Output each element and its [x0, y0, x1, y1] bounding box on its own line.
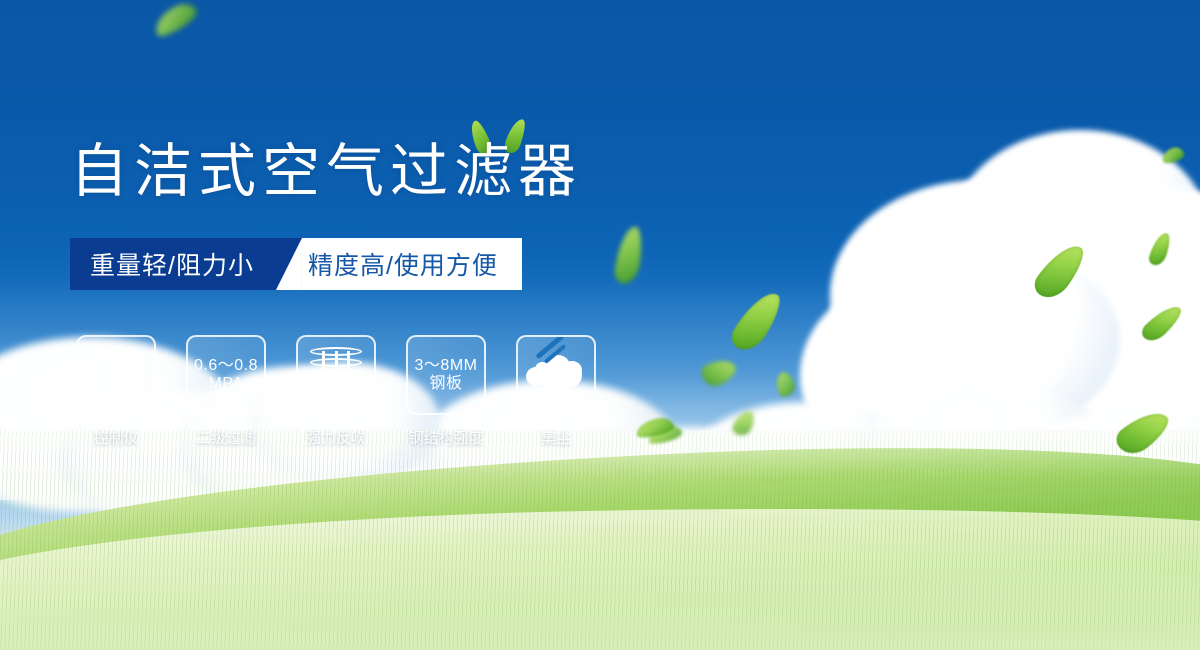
feature-item-control[interactable]: NO OFF 控制仪 — [70, 335, 162, 448]
dial-tick — [91, 359, 94, 362]
steel-line1: 3〜8MM — [415, 357, 478, 374]
dial-tick — [89, 364, 92, 367]
pressure-line1: 0.6〜0.8 — [194, 357, 258, 374]
dial-tick — [110, 347, 113, 350]
dial-tick — [95, 355, 98, 358]
dial-tick — [90, 385, 93, 388]
dial-tick — [120, 347, 123, 350]
dial-tick — [99, 351, 102, 354]
subtitle-divider — [276, 238, 302, 290]
feature-list: NO OFF 控制仪 0.6〜0.8 MPA 二级过滤 — [70, 335, 602, 448]
steel-line2: 钢板 — [415, 375, 478, 393]
dial-tick — [134, 355, 137, 358]
feature-label: 二级过滤 — [196, 427, 256, 448]
dial-tick — [97, 394, 100, 397]
subtitle-bar: 重量轻/阻力小 精度高/使用方便 — [70, 238, 522, 290]
gauge-graphic: NO OFF — [81, 342, 151, 408]
dial-tick — [127, 397, 130, 400]
dial-on-label: NO — [80, 370, 91, 377]
feature-label: 集尘 — [541, 427, 571, 448]
steel-plate-text-icon: 3〜8MM 钢板 — [406, 335, 486, 415]
filter-stack-icon — [296, 335, 376, 415]
dial-tick — [140, 381, 143, 384]
dial-tick — [130, 352, 133, 355]
dial-tick — [138, 360, 141, 363]
feature-item-steel[interactable]: 3〜8MM 钢板 钢结构强度 — [400, 335, 492, 448]
cloud-graphic — [526, 346, 586, 388]
pressure-text-icon: 0.6〜0.8 MPA — [186, 335, 266, 415]
dial-tick — [111, 400, 114, 403]
feature-label: 强力反吹 — [306, 427, 366, 448]
feature-label: 钢结构强度 — [408, 427, 483, 448]
dial-tick — [141, 370, 144, 373]
pressure-line2: MPA — [194, 375, 258, 393]
dial-tick — [135, 390, 138, 393]
feature-item-filtration[interactable]: 0.6〜0.8 MPA 二级过滤 — [180, 335, 272, 448]
feature-item-blowback[interactable]: 强力反吹 — [290, 335, 382, 448]
stack-graphic — [310, 347, 362, 403]
feature-item-dust[interactable]: Air 集尘 — [510, 335, 602, 448]
dial-tick — [117, 400, 120, 403]
dial-off-label: OFF — [136, 395, 151, 402]
subtitle-right: 精度高/使用方便 — [302, 238, 522, 290]
dial-tick — [93, 390, 96, 393]
dial-tick — [140, 364, 143, 367]
subtitle-left: 重量轻/阻力小 — [70, 238, 276, 290]
dial-tick — [101, 397, 104, 400]
dial-tick — [106, 399, 109, 402]
air-cloud-icon: Air — [516, 335, 596, 415]
page-title: 自洁式空气过滤器 — [70, 143, 582, 201]
dial-tick — [132, 394, 135, 397]
dial-tick — [115, 346, 118, 349]
dial-tick — [126, 349, 129, 352]
feature-label: 控制仪 — [93, 427, 138, 448]
dial-tick — [88, 380, 91, 383]
dial-tick — [138, 386, 141, 389]
banner-content: 自洁式空气过滤器 重量轻/阻力小 精度高/使用方便 NO OFF 控制仪 — [0, 0, 1200, 650]
air-caption: Air — [547, 390, 564, 405]
dial-tick — [122, 399, 125, 402]
dial-tick — [141, 375, 144, 378]
product-banner: 自洁式空气过滤器 重量轻/阻力小 精度高/使用方便 NO OFF 控制仪 — [0, 0, 1200, 650]
control-dial-icon: NO OFF — [76, 335, 156, 415]
